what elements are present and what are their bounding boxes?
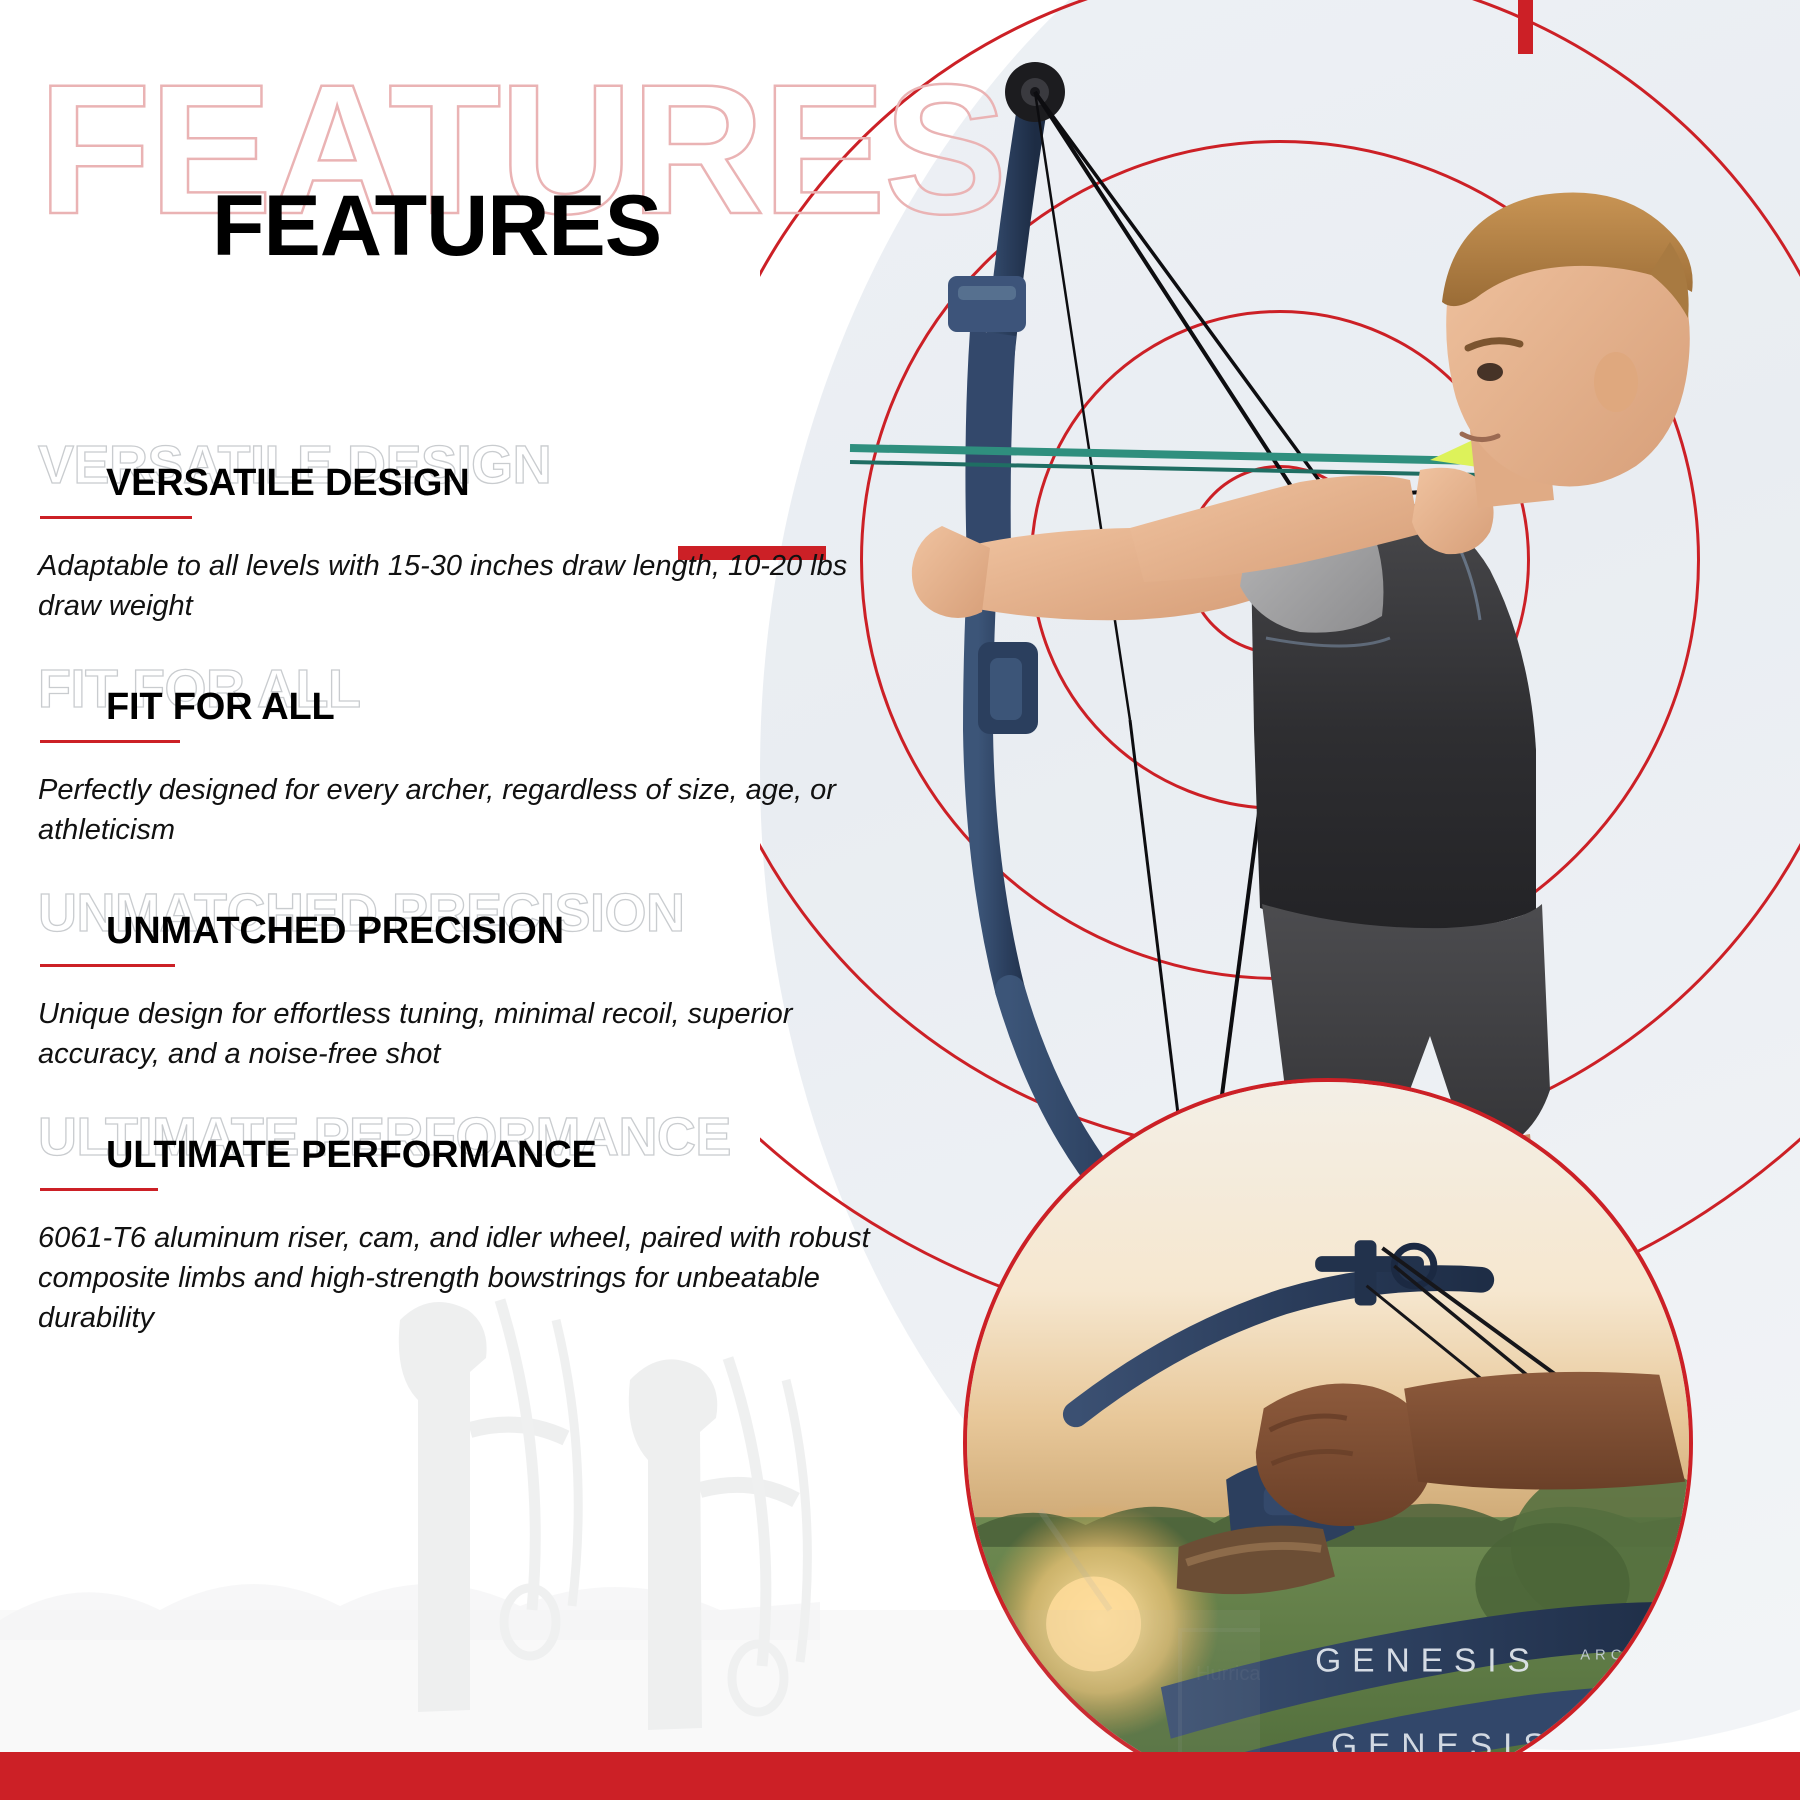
feature-title: VERSATILE DESIGN [106,464,469,502]
feature-underline-rule [40,1188,158,1191]
feature-description: Perfectly designed for every archer, reg… [38,770,888,850]
feature-title: FIT FOR ALL [106,688,335,726]
feature-underline-rule [40,964,175,967]
feature-heading-group: VERSATILE DESIGN VERSATILE DESIGN [38,438,898,524]
feature-heading-group: ULTIMATE PERFORMANCE ULTIMATE PERFORMANC… [38,1110,898,1196]
svg-text:GENESIS: GENESIS [1315,1642,1541,1679]
feature-underline-rule [40,740,180,743]
bow-grip-inset-photo: GENESIS ARCHE GENESIS AR [963,1078,1693,1800]
feature-description: Unique design for effortless tuning, min… [38,994,888,1074]
feature-heading-group: UNMATCHED PRECISION UNMATCHED PRECISION [38,886,898,972]
feature-item-fit-for-all: FIT FOR ALL FIT FOR ALL Perfectly design… [38,662,898,850]
feature-title: ULTIMATE PERFORMANCE [106,1136,597,1174]
feature-item-unmatched-precision: UNMATCHED PRECISION UNMATCHED PRECISION … [38,886,898,1074]
feature-item-ultimate-performance: ULTIMATE PERFORMANCE ULTIMATE PERFORMANC… [38,1110,898,1338]
content-column: FEATURES FEATURES VERSATILE DESIGN VERSA… [0,0,900,1800]
feature-description: 6061-T6 aluminum riser, cam, and idler w… [38,1218,888,1338]
page-title: FEATURES [212,183,661,269]
infographic-page: GENESIS ARCHE GENESIS AR Hurri [0,0,1800,1800]
features-list: VERSATILE DESIGN VERSATILE DESIGN Adapta… [38,438,898,1374]
feature-description: Adaptable to all levels with 15-30 inche… [38,546,888,626]
feature-underline-rule [40,516,192,519]
feature-item-versatile-design: VERSATILE DESIGN VERSATILE DESIGN Adapta… [38,438,898,626]
feature-title: UNMATCHED PRECISION [106,912,564,950]
feature-heading-group: FIT FOR ALL FIT FOR ALL [38,662,898,748]
